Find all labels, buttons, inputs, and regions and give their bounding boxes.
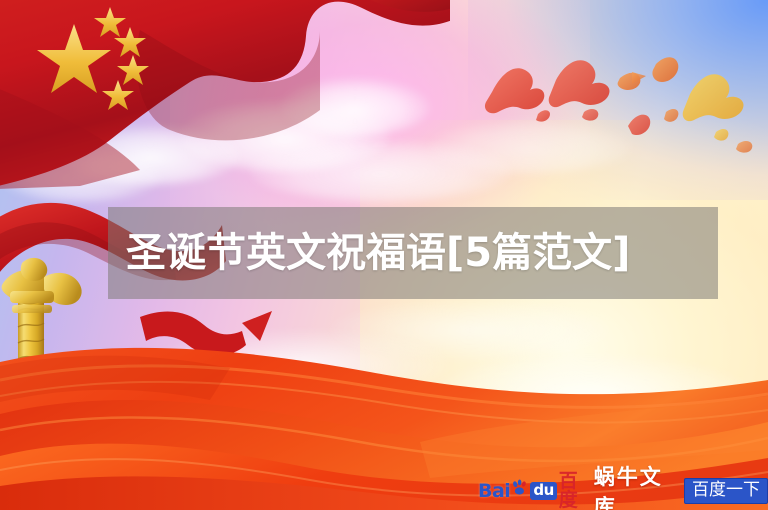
baidu-paw-icon xyxy=(511,479,528,496)
baidu-logo-chinese-text: 百度 xyxy=(559,472,581,510)
flying-birds-icon xyxy=(480,50,768,170)
watermark-bar: Bai du 百度 蜗牛文库 百度一下 xyxy=(478,476,768,506)
poster-image: 圣诞节英文祝福语[5篇范文] Bai du 百度 蜗牛文库 百度一下 xyxy=(0,0,768,510)
baidu-logo-bai-text: Bai xyxy=(478,482,510,501)
baidu-logo-du-text: du xyxy=(530,482,556,500)
title-overlay-band: 圣诞节英文祝福语[5篇范文] xyxy=(108,207,718,299)
chinese-flag-icon xyxy=(0,0,450,190)
page-title: 圣诞节英文祝福语[5篇范文] xyxy=(126,233,630,273)
baidu-search-button[interactable]: 百度一下 xyxy=(684,478,768,504)
baidu-logo[interactable]: Bai du 百度 xyxy=(478,472,581,510)
site-name-label: 蜗牛文库 xyxy=(594,461,674,510)
